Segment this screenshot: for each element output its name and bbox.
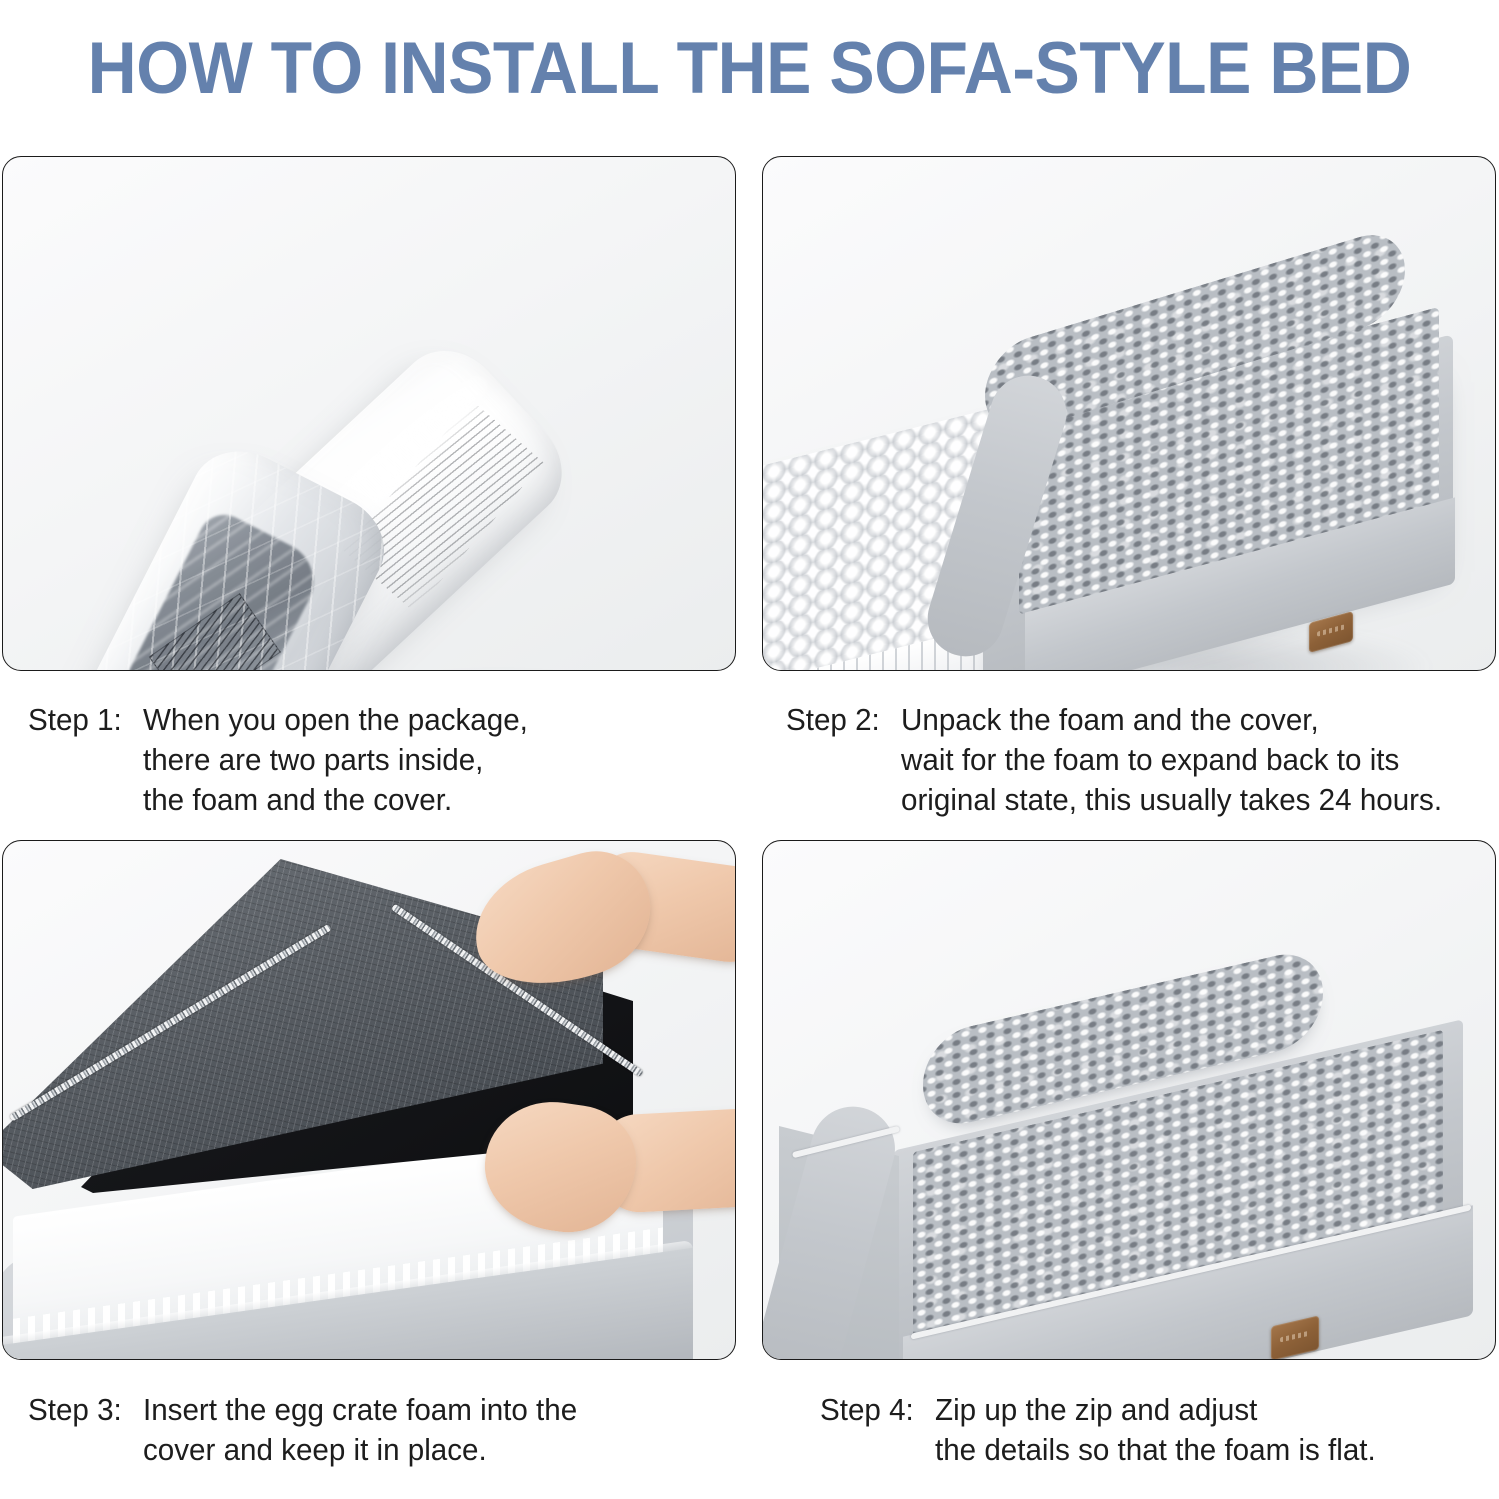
step-4-line-2: the details so that the foam is flat. bbox=[935, 1430, 1483, 1470]
step-4-image-panel bbox=[762, 840, 1496, 1360]
step-4-caption: Step 4: Zip up the zip and adjust the de… bbox=[820, 1390, 1499, 1470]
step-3-caption: Step 3: Insert the egg crate foam into t… bbox=[28, 1390, 728, 1470]
step-2-line-1: Unpack the foam and the cover, bbox=[901, 700, 1478, 740]
step-4-label: Step 4: bbox=[820, 1390, 931, 1430]
step-1-line-3: the foam and the cover. bbox=[143, 780, 711, 820]
step-1-line-2: there are two parts inside, bbox=[143, 740, 711, 780]
step-4-text: Zip up the zip and adjust the details so… bbox=[935, 1390, 1483, 1470]
packaged-rolls-scene bbox=[3, 157, 735, 670]
step-1-line-1: When you open the package, bbox=[143, 700, 711, 740]
step-4-line-1: Zip up the zip and adjust bbox=[935, 1390, 1483, 1430]
page-title: HOW TO INSTALL THE SOFA-STYLE BED bbox=[52, 26, 1446, 112]
step-2-image-panel bbox=[762, 156, 1496, 671]
step-3-image-panel bbox=[2, 840, 736, 1360]
step-1-text: When you open the package, there are two… bbox=[143, 700, 711, 820]
step-3-label: Step 3: bbox=[28, 1390, 139, 1430]
step-2-line-3: original state, this usually takes 24 ho… bbox=[901, 780, 1478, 820]
inserting-foam-scene bbox=[3, 841, 735, 1359]
step-3-line-1: Insert the egg crate foam into the bbox=[143, 1390, 711, 1430]
step-3-line-2: cover and keep it in place. bbox=[143, 1430, 711, 1470]
finished-bed-scene bbox=[763, 841, 1495, 1359]
step-2-caption: Step 2: Unpack the foam and the cover, w… bbox=[786, 700, 1496, 820]
step-1-image-panel bbox=[2, 156, 736, 671]
unpacked-foam-and-cover-scene bbox=[763, 157, 1495, 670]
step-3-text: Insert the egg crate foam into the cover… bbox=[143, 1390, 711, 1470]
step-1-label: Step 1: bbox=[28, 700, 139, 740]
step-2-label: Step 2: bbox=[786, 700, 897, 740]
step-2-text: Unpack the foam and the cover, wait for … bbox=[901, 700, 1478, 820]
step-1-caption: Step 1: When you open the package, there… bbox=[28, 700, 728, 820]
step-2-line-2: wait for the foam to expand back to its bbox=[901, 740, 1478, 780]
